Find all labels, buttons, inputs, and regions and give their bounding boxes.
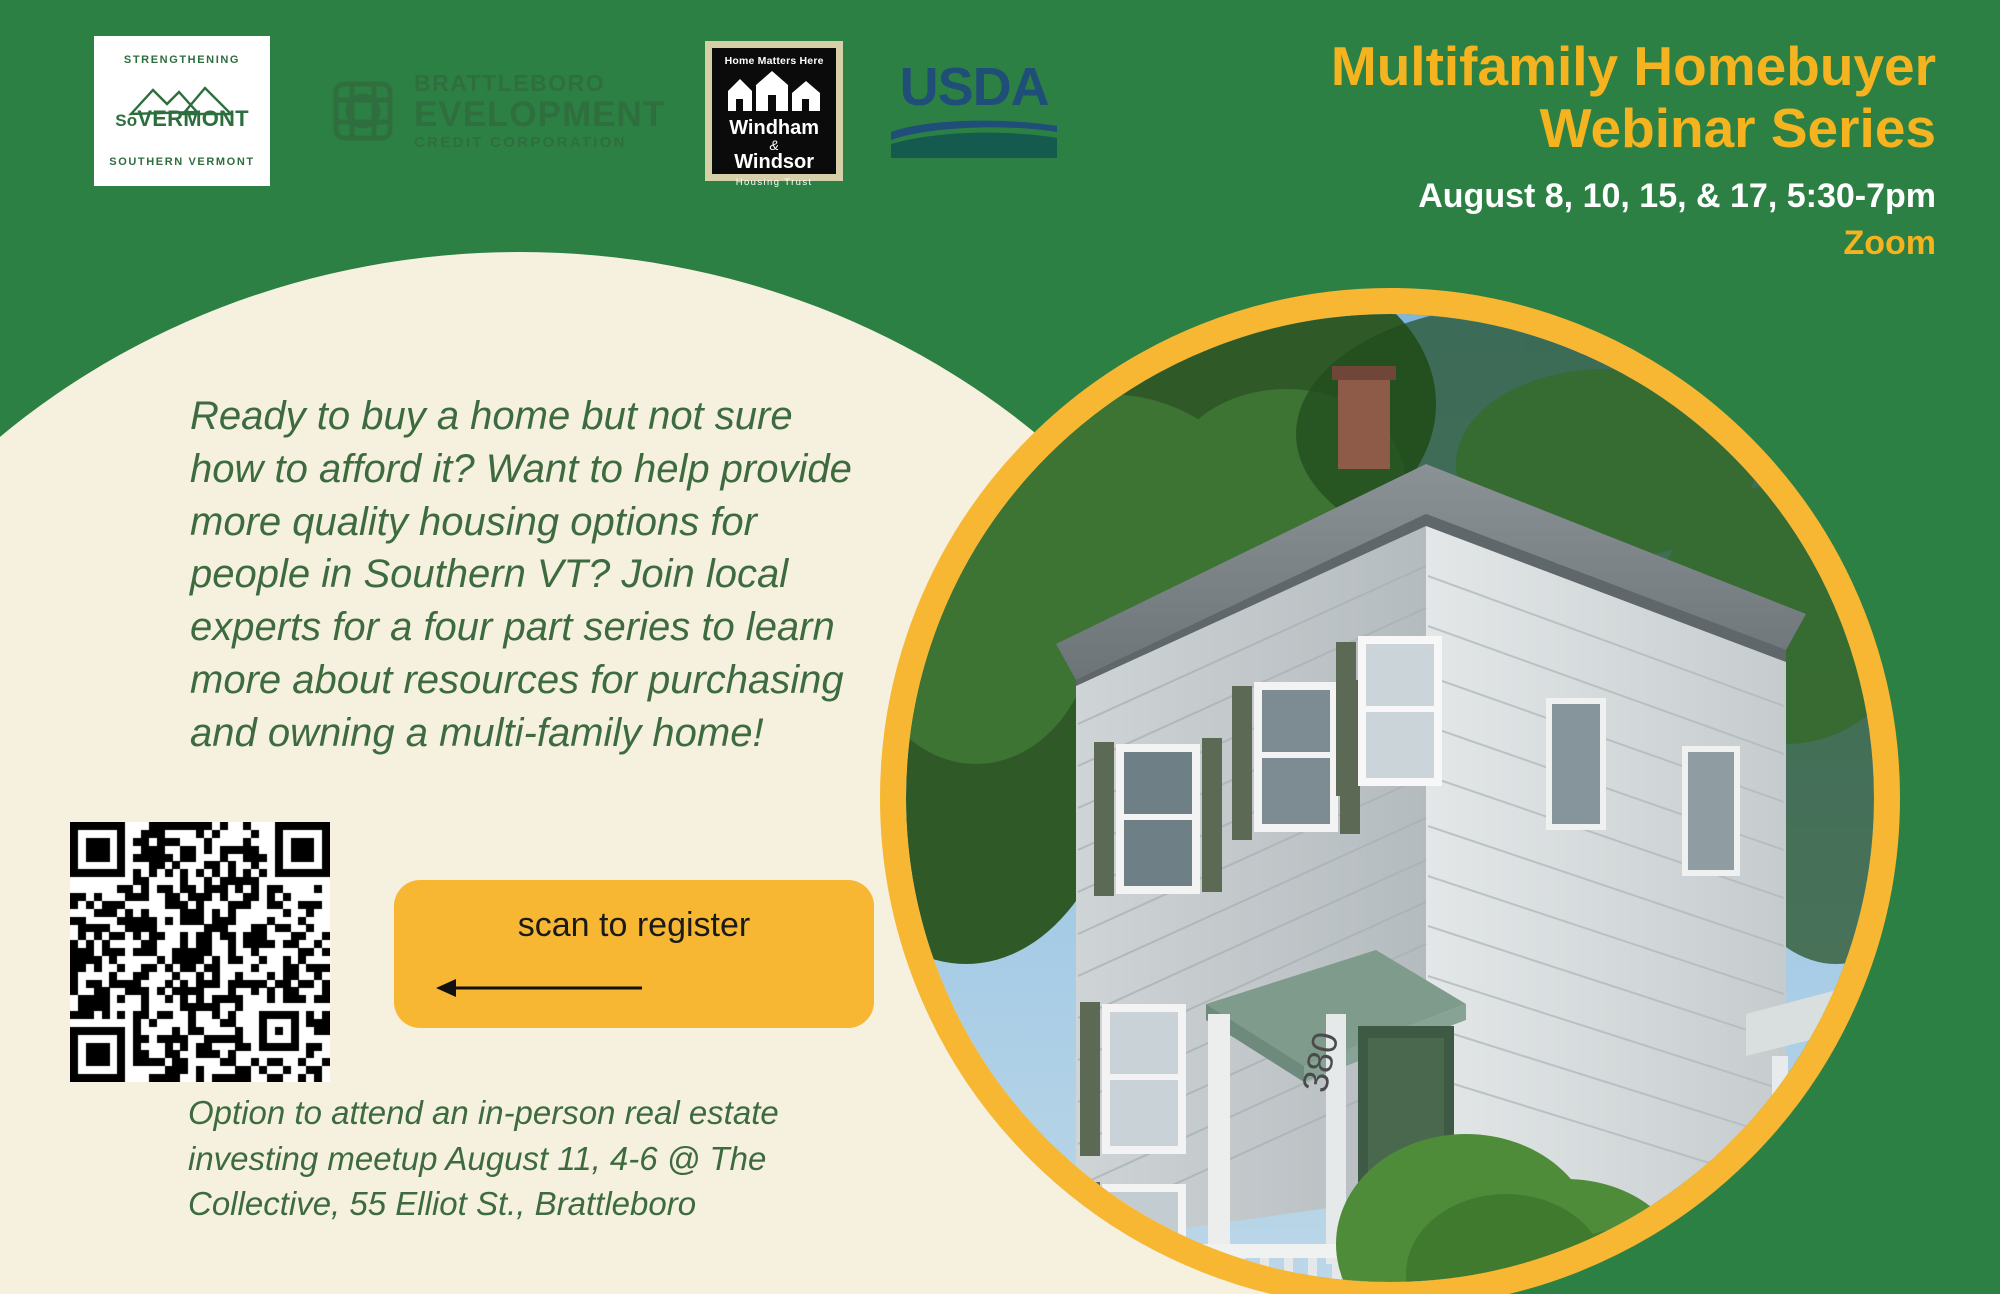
page-title: Multifamily Homebuyer Webinar Series (1331, 36, 1936, 159)
logo-wwht-subtitle: Housing Trust (736, 177, 813, 188)
house-photo-alt: Two-story gray multi-family house with g… (880, 288, 881, 289)
scan-to-register-callout[interactable]: scan to register (394, 880, 874, 1028)
mountain-icon (94, 82, 270, 121)
houses-icon (722, 69, 826, 116)
logo-bdcc-line1: BRATTLEBORO (414, 72, 665, 95)
logo-usda: USDA (889, 62, 1059, 159)
event-dates: August 8, 10, 15, & 17, 5:30-7pm (1331, 177, 1936, 216)
logo-sovt-arc-bottom: SOUTHERN VERMONT (94, 156, 270, 168)
partner-logos: STRENGTHENING SoVERMONT SOUTHERN VERMONT (94, 36, 1059, 186)
footer-paragraph: Option to attend an in-person real estat… (188, 1090, 828, 1227)
house-photo: 380 (880, 288, 1900, 1294)
logo-windham-windsor-housing-trust: Home Matters Here Windham & (705, 41, 843, 181)
event-platform: Zoom (1331, 224, 1936, 263)
logo-bdcc-wordmark: BRATTLEBORO EVELOPMENT CREDIT CORPORATIO… (414, 72, 665, 150)
logo-wwht-tagline: Home Matters Here (725, 55, 824, 67)
page-title-line2: Webinar Series (1540, 97, 1936, 159)
qr-code[interactable]: QR code (70, 822, 330, 1082)
logo-wwht-word2: Windsor (734, 152, 814, 172)
photo-ring-border (880, 288, 1900, 1294)
logo-bdcc: BRATTLEBORO EVELOPMENT CREDIT CORPORATIO… (326, 72, 665, 150)
arrow-left-icon (434, 976, 644, 1000)
body-paragraph: Ready to buy a home but not sure how to … (190, 390, 860, 760)
usda-swoosh-icon (889, 116, 1059, 160)
page-title-line1: Multifamily Homebuyer (1331, 35, 1936, 97)
logo-usda-wordmark: USDA (889, 62, 1059, 113)
logo-bdcc-line2: EVELOPMENT (414, 97, 665, 132)
logo-sovt-arc-top: STRENGTHENING (94, 54, 270, 66)
logo-bdcc-line3: CREDIT CORPORATION (414, 135, 665, 150)
logo-wwht-word1: Windham (729, 118, 819, 138)
celtic-knot-icon (326, 74, 400, 148)
logo-strengthening-southern-vermont: STRENGTHENING SoVERMONT SOUTHERN VERMONT (94, 36, 270, 186)
logo-wwht-ampersand: & (769, 138, 778, 152)
header-text-block: Multifamily Homebuyer Webinar Series Aug… (1331, 36, 1936, 263)
qr-code-canvas[interactable] (70, 822, 330, 1082)
scan-to-register-label: scan to register (394, 906, 874, 945)
flyer-canvas: STRENGTHENING SoVERMONT SOUTHERN VERMONT (0, 0, 2000, 1294)
